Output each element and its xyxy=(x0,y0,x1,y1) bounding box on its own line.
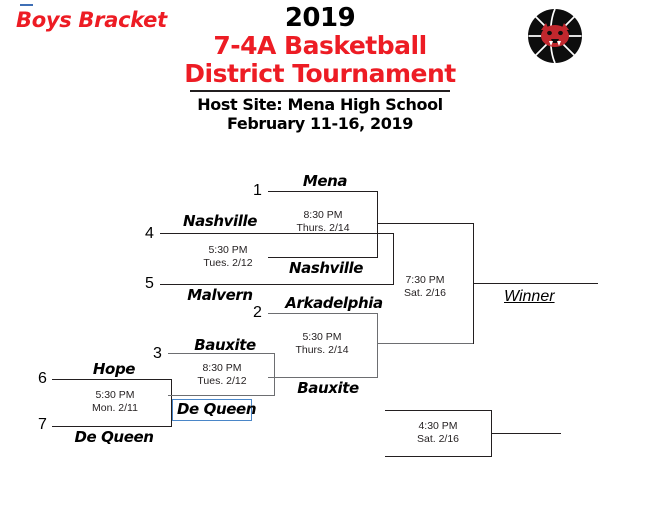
consolation-bottom-line xyxy=(385,456,492,457)
team-nashville-seed4: Nashville xyxy=(172,212,268,230)
game-e-top-line xyxy=(268,313,378,314)
seed-number-2: 2 xyxy=(253,305,262,321)
game-d-top-line xyxy=(268,191,378,192)
game-c-time: 5:30 PM xyxy=(95,389,134,401)
game-e-date: Thurs. 2/14 xyxy=(295,344,348,356)
game-d-right-connector xyxy=(377,191,378,258)
game-b-top-line xyxy=(168,353,275,354)
seed-number-7: 7 xyxy=(38,417,47,433)
game-e-info: 5:30 PM Thurs. 2/14 xyxy=(272,331,372,358)
tournament-dates-text: February 11-16, 2019 xyxy=(150,114,490,133)
game-d-bottom-line xyxy=(268,257,378,258)
title-block: 2019 7-4A Basketball District Tournament… xyxy=(150,4,490,133)
winner-line xyxy=(473,283,598,284)
host-site-text: Host Site: Mena High School xyxy=(150,95,490,114)
team-arkadelphia-seed2: Arkadelphia xyxy=(278,294,390,312)
game-c-info: 5:30 PM Mon. 2/11 xyxy=(65,389,165,416)
seed-number-5: 5 xyxy=(145,276,154,292)
bearcat-basketball-logo xyxy=(527,8,583,64)
consolation-date: Sat. 2/16 xyxy=(417,433,459,445)
game-b-right-connector xyxy=(274,353,275,396)
game-c-bottom-line xyxy=(52,426,172,427)
title-line-2: District Tournament xyxy=(150,60,490,88)
title-year: 2019 xyxy=(150,4,490,32)
consolation-top-line xyxy=(385,410,492,411)
game-a-info: 5:30 PM Tues. 2/12 xyxy=(178,244,278,271)
final-time: 7:30 PM xyxy=(405,274,444,286)
title-line-1: 7-4A Basketball xyxy=(150,32,490,60)
blue-tick-mark xyxy=(20,4,33,6)
title-divider xyxy=(190,90,450,92)
consolation-winner-line xyxy=(491,433,561,434)
selected-team-box-dequeen[interactable]: De Queen xyxy=(172,399,252,421)
consolation-info: 4:30 PM Sat. 2/16 xyxy=(393,420,483,447)
game-d-info: 8:30 PM Thurs. 2/14 xyxy=(273,209,373,236)
winner-label: Winner xyxy=(504,288,555,306)
game-e-right-connector xyxy=(377,313,378,378)
final-info: 7:30 PM Sat. 2/16 xyxy=(380,274,470,301)
bracket-page: Boys Bracket 2019 7-4A Basketball Distri… xyxy=(0,0,665,511)
game-e-bottom-line xyxy=(268,377,378,378)
game-b-bottom-line xyxy=(168,395,275,396)
team-bauxite-seed3: Bauxite xyxy=(180,336,270,354)
game-b-info: 8:30 PM Tues. 2/12 xyxy=(172,362,272,389)
team-mena-seed1: Mena xyxy=(282,172,368,190)
game-d-date: Thurs. 2/14 xyxy=(296,222,349,234)
seed-number-6: 6 xyxy=(38,371,47,387)
boys-bracket-label: Boys Bracket xyxy=(16,8,167,32)
final-bottom-line xyxy=(377,343,474,344)
final-top-line xyxy=(377,223,474,224)
game-b-time: 8:30 PM xyxy=(202,362,241,374)
consolation-time: 4:30 PM xyxy=(418,420,457,432)
seed-number-1: 1 xyxy=(253,183,262,199)
seed-number-4: 4 xyxy=(145,226,154,242)
game-d-time: 8:30 PM xyxy=(303,209,342,221)
team-nashville-advance: Nashville xyxy=(278,259,374,277)
team-dequeen-selected: De Queen xyxy=(173,400,251,418)
seed-number-3: 3 xyxy=(153,346,162,362)
game-c-top-line xyxy=(52,379,172,380)
team-hope-seed6: Hope xyxy=(66,360,162,378)
team-bauxite-advance: Bauxite xyxy=(280,379,376,397)
team-dequeen-seed7: De Queen xyxy=(66,428,162,446)
game-a-date: Tues. 2/12 xyxy=(203,257,252,269)
game-e-time: 5:30 PM xyxy=(302,331,341,343)
team-malvern-seed5: Malvern xyxy=(172,286,268,304)
game-a-time: 5:30 PM xyxy=(208,244,247,256)
game-c-date: Mon. 2/11 xyxy=(92,402,138,414)
game-b-date: Tues. 2/12 xyxy=(197,375,246,387)
final-date: Sat. 2/16 xyxy=(404,287,446,299)
game-a-bottom-line xyxy=(160,284,394,285)
